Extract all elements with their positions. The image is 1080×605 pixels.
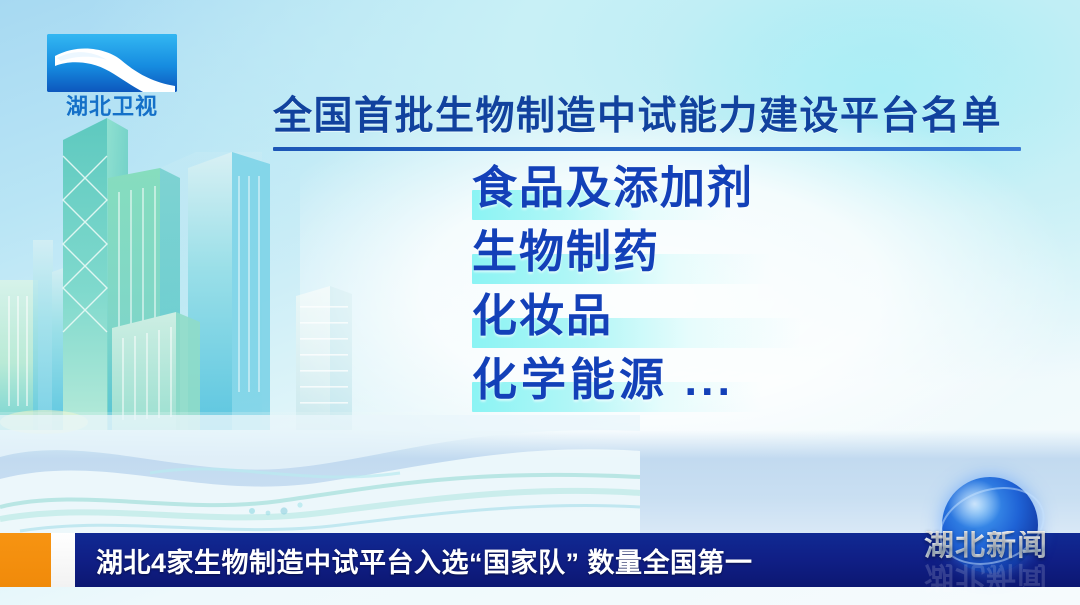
news-brand-label: 湖北新闻 bbox=[898, 531, 1074, 561]
list-item: 化学能源 ... bbox=[462, 352, 1022, 416]
news-brand-reflection: 湖北新闻 bbox=[898, 561, 1074, 591]
page-title: 全国首批生物制造中试能力建设平台名单 bbox=[273, 96, 1033, 139]
ticker-headline: 湖北4家生物制造中试平台入选“国家队” 数量全国第一 bbox=[96, 533, 753, 587]
list-item-label: 生物制药 bbox=[472, 226, 660, 278]
list-item-label: 化妆品 bbox=[472, 290, 613, 342]
broadcast-screen: 湖北卫视 全国首批生物制造中试能力建设平台名单 食品及添加剂 生物制药 化妆品 … bbox=[0, 0, 1080, 605]
ticker-accent-block bbox=[0, 533, 51, 587]
list-item: 生物制药 bbox=[462, 224, 1022, 288]
list-item-label: 化学能源 ... bbox=[472, 354, 734, 406]
list-item: 化妆品 bbox=[462, 288, 1022, 352]
list-item: 食品及添加剂 bbox=[462, 160, 1022, 224]
ticker-divider bbox=[51, 533, 75, 587]
title-underline bbox=[273, 147, 1021, 151]
news-ticker: 湖北4家生物制造中试平台入选“国家队” 数量全国第一 湖北新闻 湖北新闻 bbox=[0, 533, 1080, 587]
broadcaster-name: 湖北卫视 bbox=[47, 96, 177, 118]
broadcaster-logo: 湖北卫视 bbox=[47, 34, 177, 134]
list-item-label: 食品及添加剂 bbox=[472, 162, 754, 214]
hubei-tv-river-logo-icon bbox=[47, 34, 177, 92]
wave-svg bbox=[0, 415, 640, 540]
background-wave-pattern bbox=[0, 415, 640, 540]
logo-svg bbox=[47, 34, 177, 92]
category-list: 食品及添加剂 生物制药 化妆品 化学能源 ... bbox=[462, 160, 1022, 416]
news-brand: 湖北新闻 湖北新闻 bbox=[898, 475, 1074, 587]
